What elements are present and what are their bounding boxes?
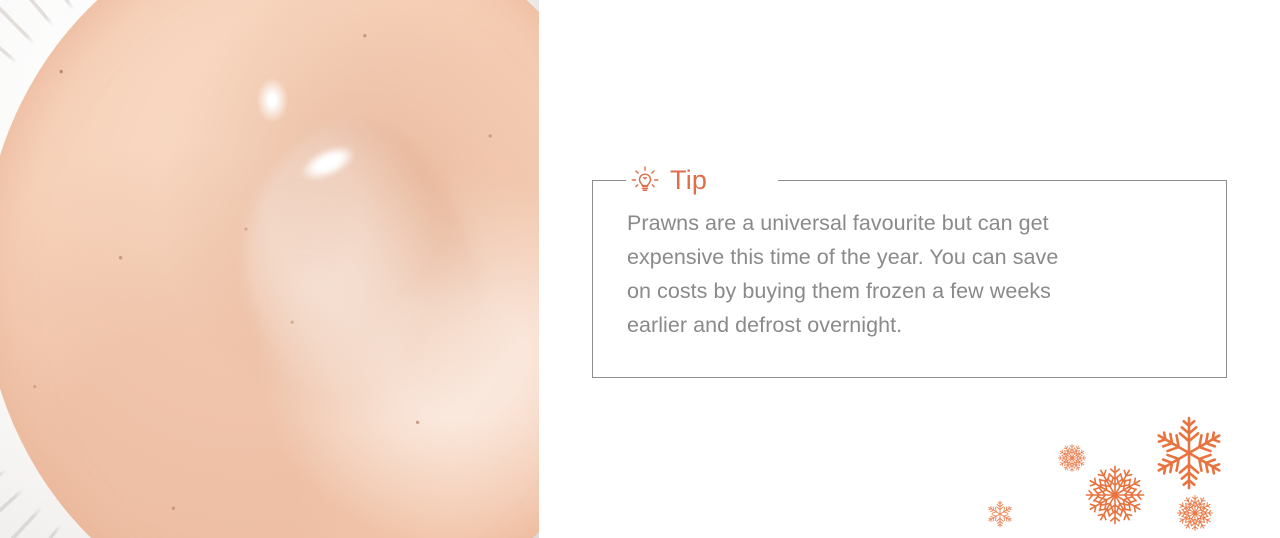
recipe-photo bbox=[0, 0, 539, 538]
snowflake-small-right bbox=[1176, 494, 1214, 532]
snowflake-small-left bbox=[986, 500, 1014, 528]
tip-body-line: Prawns are a universal favourite but can… bbox=[627, 206, 1193, 240]
tip-body-line: earlier and defrost overnight. bbox=[627, 308, 1193, 342]
tip-header: Tip bbox=[630, 158, 707, 202]
photo-sauce-speckles bbox=[0, 0, 539, 538]
tip-card-page: Tip Prawns are a universal favourite but… bbox=[0, 0, 1280, 538]
snowflake-large bbox=[1151, 415, 1227, 491]
snowflake-medium bbox=[1084, 464, 1146, 526]
lightbulb-icon bbox=[630, 165, 660, 195]
snowflake-small-upper bbox=[1057, 443, 1087, 473]
tip-body-line: expensive this time of the year. You can… bbox=[627, 240, 1193, 274]
tip-callout: Tip Prawns are a universal favourite but… bbox=[592, 180, 1227, 378]
tip-body-text: Prawns are a universal favourite but can… bbox=[627, 206, 1193, 342]
tip-body-line: on costs by buying them frozen a few wee… bbox=[627, 274, 1193, 308]
tip-label: Tip bbox=[670, 167, 707, 194]
